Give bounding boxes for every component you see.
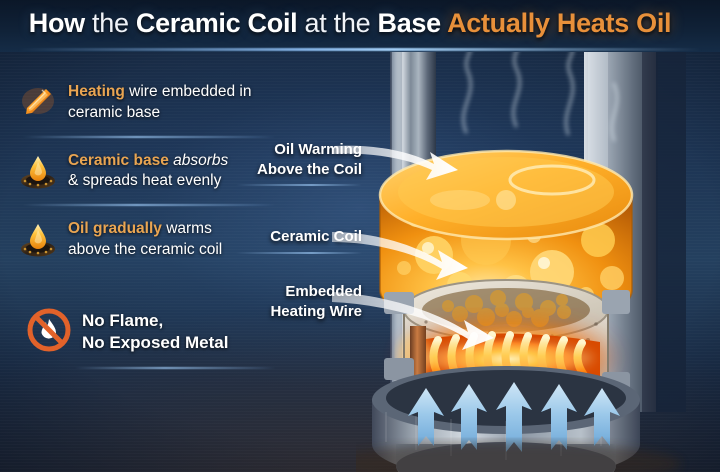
title-bar: How the Ceramic Coil at the Base Actuall… [0, 0, 720, 52]
arrow-to-heating-wire [332, 292, 494, 350]
bullet-3-rest: warms [162, 220, 212, 237]
bullet-1-bold: Heating [68, 83, 125, 100]
list-item-heating-wire: Heating wire embedded in ceramic base [14, 78, 282, 127]
list-divider [22, 136, 276, 138]
no-flame-icon [26, 307, 72, 353]
page-title: How the Ceramic Coil at the Base Actuall… [0, 8, 700, 39]
title-part-the: the [85, 8, 136, 38]
title-part-how: How [29, 8, 85, 38]
title-highlight: Actually Heats Oil [447, 8, 671, 38]
list-item-text: Ceramic base absorbs & spreads heat even… [68, 150, 228, 193]
bullet-1-rest: wire embedded in [125, 83, 252, 100]
bullet-2-italic: absorbs [169, 152, 228, 169]
bullet-2-line2: & spreads heat evenly [68, 172, 221, 189]
list-divider [74, 367, 276, 369]
oil-drop-lamp-icon [18, 218, 58, 258]
title-part-base: Base [378, 8, 448, 38]
bullet-2-bold: Ceramic base [68, 152, 169, 169]
list-divider [22, 204, 276, 206]
infographic-canvas: How the Ceramic Coil at the Base Actuall… [0, 0, 720, 472]
title-part-ceramic-coil: Ceramic Coil [136, 8, 297, 38]
callout-pointer-arrows [330, 120, 570, 370]
bullet-3-line2: above the ceramic coil [68, 241, 222, 258]
bullet-1-line2: ceramic base [68, 104, 160, 121]
bullet-4-line2: No Exposed Metal [82, 333, 228, 352]
bullet-4-line1: No Flame, [82, 311, 163, 330]
oil-drop-lamp-icon [18, 150, 58, 190]
list-item-text: Oil gradually warms above the ceramic co… [68, 218, 222, 261]
arrow-to-oil [334, 146, 458, 180]
arrow-to-ceramic-coil [332, 232, 468, 280]
heating-wire-icon [18, 81, 58, 121]
title-underline-glow [18, 48, 702, 51]
title-part-at-the: at the [297, 8, 377, 38]
list-item-text: Heating wire embedded in ceramic base [68, 81, 252, 124]
list-item-text: No Flame, No Exposed Metal [82, 307, 228, 356]
bullet-3-bold: Oil gradually [68, 220, 162, 237]
